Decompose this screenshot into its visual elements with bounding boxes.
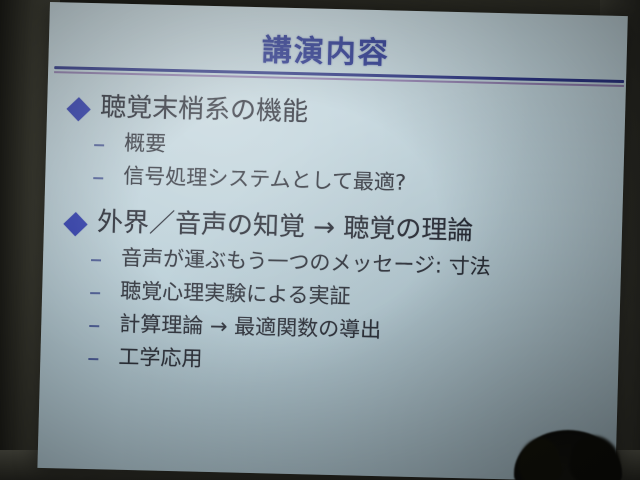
slide-section: 外界／音声の知覚 → 聴覚の理論 音声が運ぶもう一つのメッセージ: 寸法 聴覚心… <box>60 206 612 384</box>
dash-bullet-icon <box>93 177 103 179</box>
dash-bullet-icon <box>90 292 100 294</box>
screenshot-stage: 講演内容 聴覚末梢系の機能 概要 <box>0 0 640 480</box>
diamond-bullet-icon <box>67 97 91 121</box>
dash-bullet-icon <box>88 358 98 360</box>
bullet-level2-label: 概要 <box>124 129 167 160</box>
bullet-level2-label: 信号処理システムとして最適? <box>123 161 407 198</box>
slide-section: 聴覚末梢系の機能 概要 信号処理システムとして最適? <box>65 90 616 203</box>
presentation-slide: 講演内容 聴覚末梢系の機能 概要 <box>37 2 627 480</box>
dash-bullet-icon <box>94 144 104 146</box>
projection-screen: 講演内容 聴覚末梢系の機能 概要 <box>37 2 627 480</box>
bullet-level1-label: 聴覚末梢系の機能 <box>100 91 309 130</box>
bullet-level2-label: 計算理論 → 最適関数の導出 <box>119 310 382 346</box>
dash-bullet-icon <box>91 259 101 261</box>
dash-bullet-icon <box>89 325 99 327</box>
diamond-bullet-icon <box>63 213 87 237</box>
bullet-level2-label: 聴覚心理実験による実証 <box>120 277 351 312</box>
bullet-level2-label: 工学応用 <box>118 342 203 374</box>
bullet-level2-label: 音声が運ぶもう一つのメッセージ: 寸法 <box>121 244 491 283</box>
slide-body: 聴覚末梢系の機能 概要 信号処理システムとして最適? 外界 <box>60 90 616 400</box>
bullet-level1-label: 外界／音声の知覚 → 聴覚の理論 <box>97 207 474 250</box>
